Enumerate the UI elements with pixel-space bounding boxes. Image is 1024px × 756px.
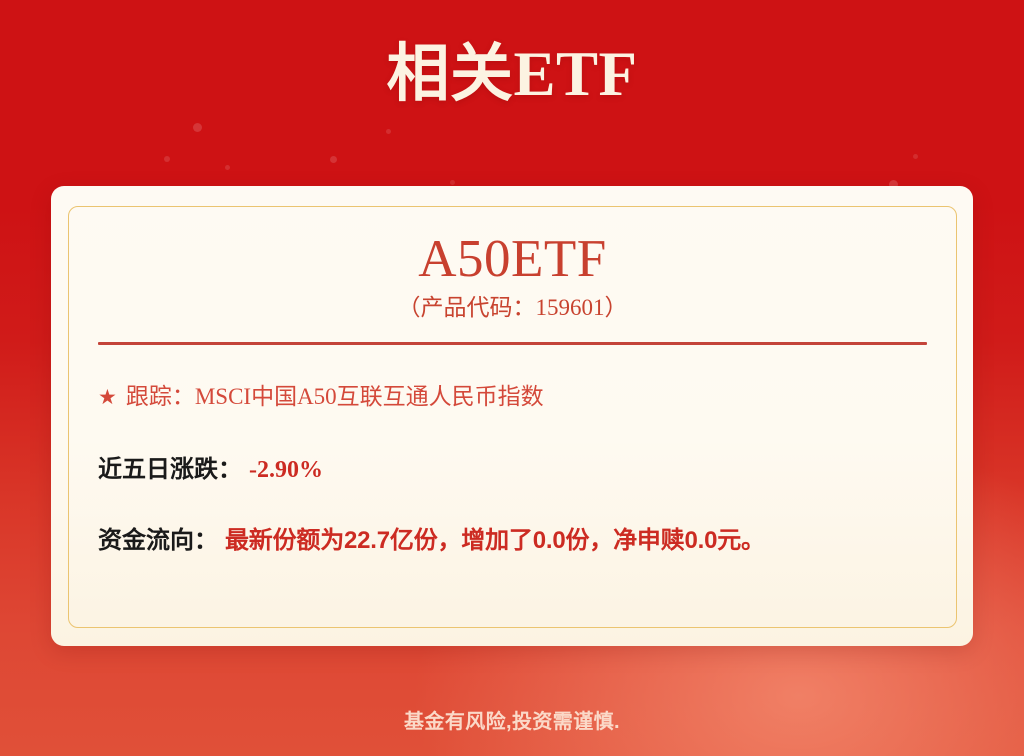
decorative-dot bbox=[164, 156, 170, 162]
fund-flow-value: 最新份额为22.7亿份，增加了0.0份，净申赎0.0元。 bbox=[225, 520, 765, 555]
five-day-change-value: -2.90% bbox=[249, 457, 323, 484]
decorative-dot bbox=[225, 165, 230, 170]
decorative-dot bbox=[386, 129, 391, 134]
etf-info-card: A50ETF （产品代码：159601） ★ 跟踪：MSCI中国A50互联互通人… bbox=[51, 186, 973, 646]
fund-flow-row: 资金流向： 最新份额为22.7亿份，增加了0.0份，净申赎0.0元。 bbox=[98, 484, 927, 555]
five-day-change-row: 近五日涨跌： -2.90% bbox=[98, 411, 927, 484]
tracking-text: 跟踪：MSCI中国A50互联互通人民币指数 bbox=[126, 377, 544, 411]
card-inner-border: A50ETF （产品代码：159601） ★ 跟踪：MSCI中国A50互联互通人… bbox=[68, 206, 957, 628]
fund-flow-label: 资金流向： bbox=[98, 520, 218, 555]
five-day-change-label: 近五日涨跌： bbox=[98, 449, 242, 484]
page-title: 相关ETF bbox=[0, 38, 1024, 110]
risk-disclaimer: 基金有风险,投资需谨慎. bbox=[0, 705, 1024, 734]
star-icon: ★ bbox=[98, 387, 117, 408]
decorative-dot bbox=[193, 123, 202, 132]
decorative-dot bbox=[330, 156, 337, 163]
fund-name: A50ETF bbox=[69, 207, 956, 288]
detail-rows: ★ 跟踪：MSCI中国A50互联互通人民币指数 近五日涨跌： -2.90% 资金… bbox=[69, 345, 956, 555]
tracking-row: ★ 跟踪：MSCI中国A50互联互通人民币指数 bbox=[98, 345, 927, 411]
decorative-dot bbox=[450, 180, 455, 185]
fund-code: （产品代码：159601） bbox=[69, 288, 956, 322]
etf-poster: 相关ETF A50ETF （产品代码：159601） ★ 跟踪：MSCI中国A5… bbox=[0, 0, 1024, 756]
decorative-dot bbox=[913, 154, 918, 159]
